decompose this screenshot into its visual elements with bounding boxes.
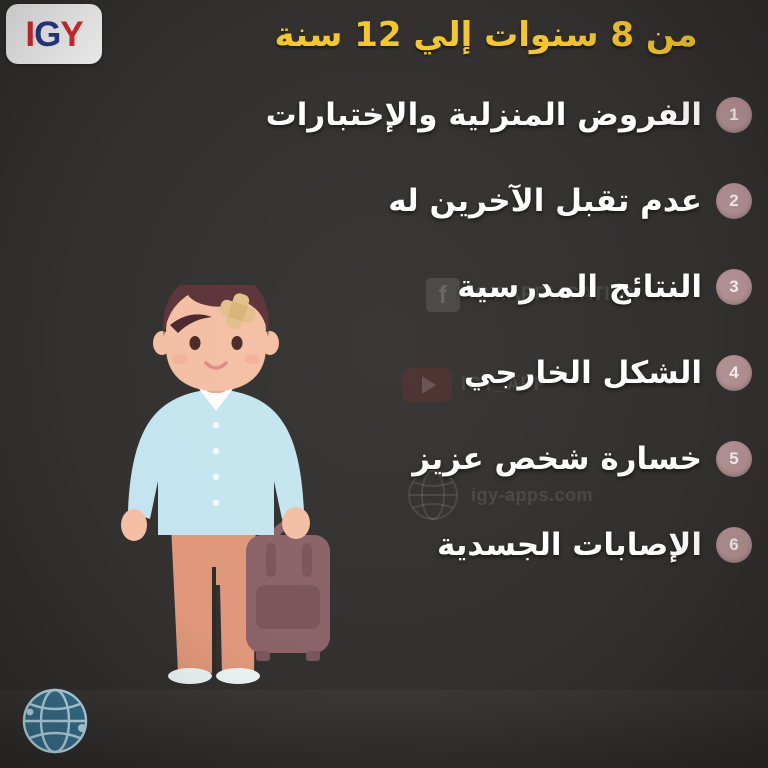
list-item-label: الفروض المنزلية والإختبارات <box>266 98 702 132</box>
list-item[interactable]: 2 عدم تقبل الآخرين له <box>12 158 760 244</box>
page-title: من 8 سنوات إلي 12 سنة <box>226 16 746 55</box>
list-item-number: 1 <box>716 97 752 133</box>
igy-logo: IGY <box>6 4 102 64</box>
logo-letter-i: I <box>25 15 34 54</box>
list-item-label: الشكل الخارجي <box>464 356 702 390</box>
list-item[interactable]: 3 النتائج المدرسية <box>12 244 760 330</box>
list-item-number: 2 <box>716 183 752 219</box>
globe-icon <box>18 684 92 758</box>
list-item-number: 3 <box>716 269 752 305</box>
footer-bar <box>0 690 768 768</box>
list-item[interactable]: 4 الشكل الخارجي <box>12 330 760 416</box>
list-item-label: عدم تقبل الآخرين له <box>388 184 702 218</box>
list-item-number: 4 <box>716 355 752 391</box>
list-item-label: خسارة شخص عزيز <box>412 442 702 476</box>
infographic-canvas: IGY من 8 سنوات إلي 12 سنة f IGY.APPLICAT… <box>0 0 768 768</box>
logo-text: IGY <box>25 17 82 52</box>
list-item[interactable]: 5 خسارة شخص عزيز <box>12 416 760 502</box>
list-item-label: الإصابات الجسدية <box>437 528 702 562</box>
list-item-number: 5 <box>716 441 752 477</box>
list-item[interactable]: 6 الإصابات الجسدية <box>12 502 760 588</box>
list-item-label: النتائج المدرسية <box>457 270 702 304</box>
list-item-number: 6 <box>716 527 752 563</box>
list-item[interactable]: 1 الفروض المنزلية والإختبارات <box>12 72 760 158</box>
logo-letter-y: Y <box>60 15 82 54</box>
risk-factor-list: 1 الفروض المنزلية والإختبارات 2 عدم تقبل… <box>12 72 760 588</box>
logo-letter-g: G <box>34 15 60 54</box>
